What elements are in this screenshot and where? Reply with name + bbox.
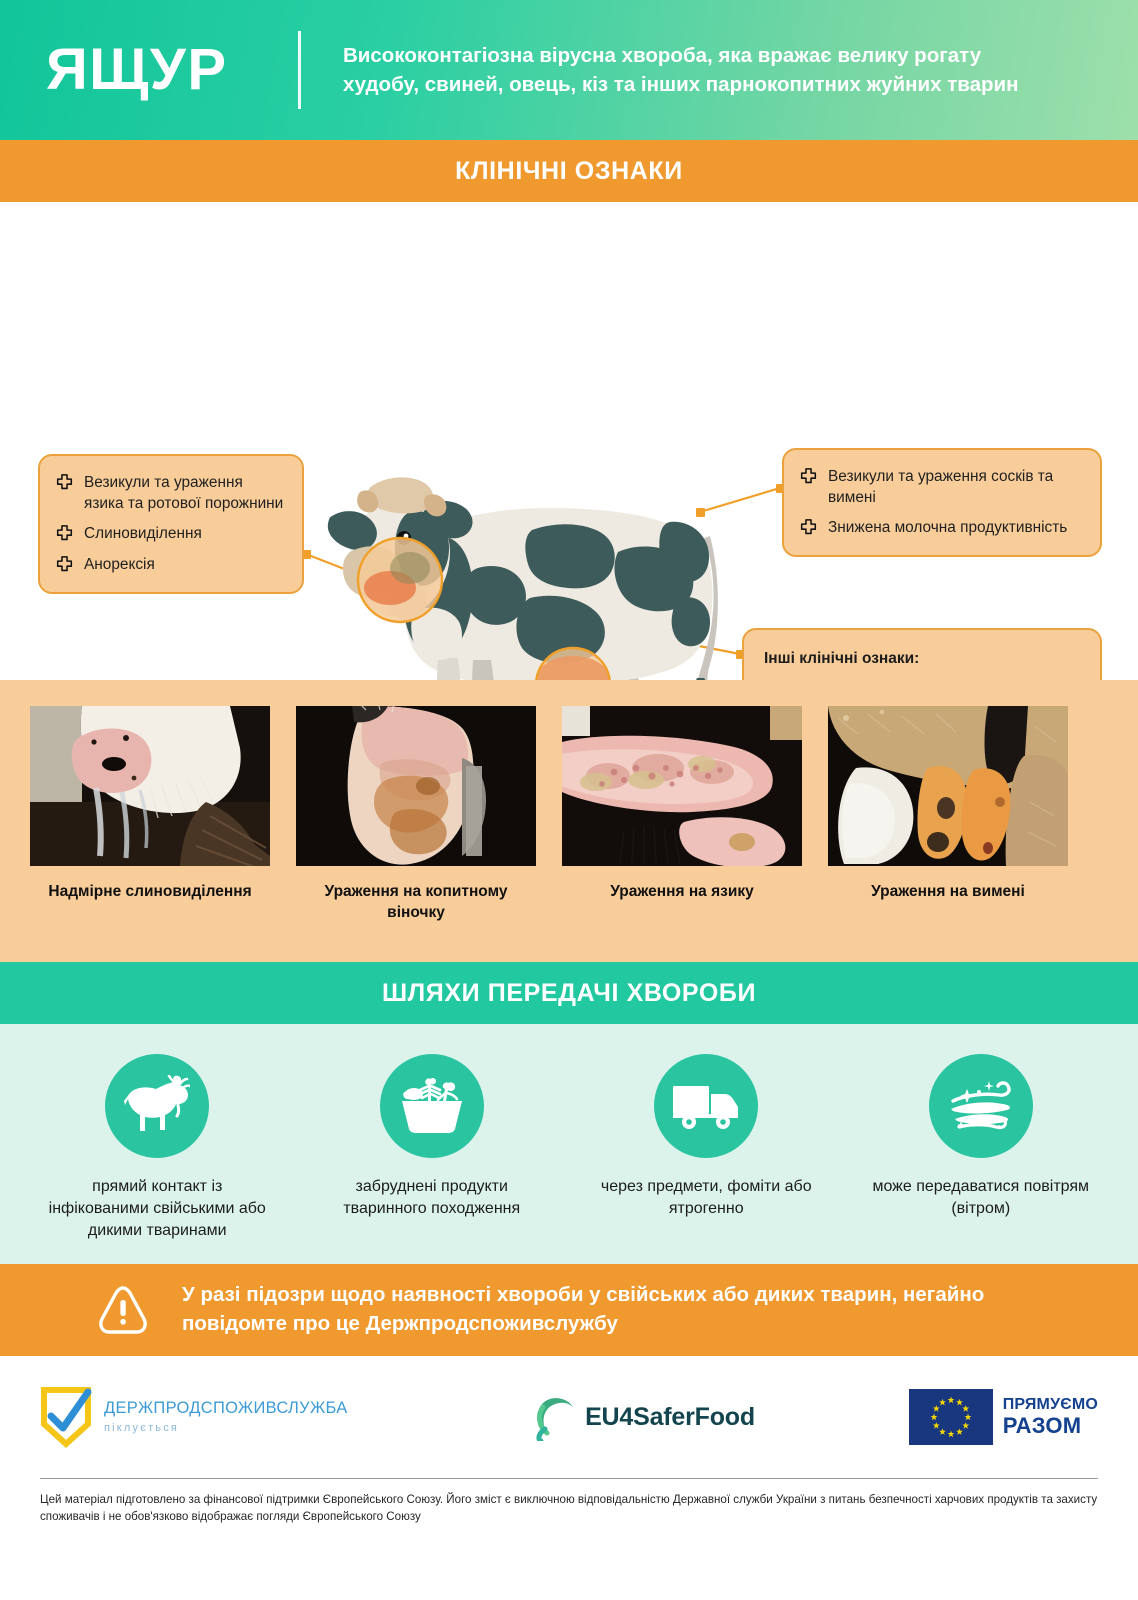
transmission-item: може передаватися повітрям (вітром) — [844, 1054, 1119, 1264]
cross-bullet-icon — [56, 556, 73, 573]
udder-lesion-photo — [828, 706, 1068, 866]
photo-caption: Ураження на вимені — [871, 882, 1025, 903]
food-basket-icon — [400, 1077, 464, 1135]
sign-item: Анорексія — [56, 554, 284, 576]
photo-caption: Ураження на копитному віночку — [296, 882, 536, 924]
cross-bullet-icon — [56, 474, 73, 491]
salivation-photo — [30, 706, 270, 866]
cross-bullet-icon — [800, 468, 817, 485]
callout-box-mouth: Везикули та ураження язика та ротової по… — [38, 454, 304, 594]
dps-logo-subtitle: піклується — [104, 1422, 348, 1434]
transmission-item-label: забруднені продукти тваринного походженн… — [317, 1176, 547, 1220]
dps-logo: ДЕРЖПРОДСПОЖИВСЛУЖБА піклується — [40, 1386, 470, 1448]
photo-cell: Ураження на вимені — [828, 706, 1068, 962]
sign-item-label: Слиновиділення — [84, 523, 202, 545]
sign-item: Везикули та ураження язика та ротової по… — [56, 472, 284, 514]
transmission-item-label: прямий контакт із інфікованими свійським… — [42, 1176, 272, 1242]
transmission-icon-circle — [380, 1054, 484, 1158]
clinical-signs-section: Везикули та ураження язика та ротової по… — [0, 202, 1138, 680]
cow-illustration — [318, 460, 743, 680]
sign-item-label: Везикули та ураження сосків та вимені — [828, 466, 1082, 508]
together-logo-line1: ПРЯМУЄМО — [1003, 1397, 1098, 1414]
together-logo-line2: РАЗОМ — [1003, 1414, 1098, 1437]
warning-text: У разі підозри щодо наявності хвороби у … — [182, 1281, 1022, 1338]
infographic-page: ЯЩУР Висококонтагіозна вірусна хвороба, … — [0, 0, 1138, 1600]
transmission-item: прямий контакт із інфікованими свійським… — [20, 1054, 295, 1264]
callout-box-title: Інші клінічні ознаки: — [764, 650, 1082, 668]
callout-box-other-signs: Інші клінічні ознаки: Аборт і раптова за… — [742, 628, 1102, 680]
photo-cell: Ураження на язику — [562, 706, 802, 962]
clinical-signs-band: КЛІНІЧНІ ОЗНАКИ — [0, 140, 1138, 202]
sign-item-label: Знижена молочна продуктивність — [828, 517, 1067, 539]
eu4saferfood-wordmark: EU4SaferFood — [585, 1403, 755, 1432]
callout-box-udder: Везикули та ураження сосків та вимені Зн… — [782, 448, 1102, 557]
disclaimer-section: Цей матеріал підготовлено за фінансової … — [0, 1478, 1138, 1525]
tongue-lesion-photo — [562, 706, 802, 866]
transmission-icon-circle — [105, 1054, 209, 1158]
eu4saferfood-swirl-icon — [533, 1393, 579, 1441]
transmission-band-label: ШЛЯХИ ПЕРЕДАЧІ ХВОРОБИ — [382, 979, 756, 1008]
transmission-item-label: може передаватися повітрям (вітром) — [866, 1176, 1096, 1220]
sign-item-label: Анорексія — [84, 554, 155, 576]
header-subtitle: Висококонтагіозна вірусна хвороба, яка в… — [343, 41, 1043, 99]
truck-icon — [673, 1082, 739, 1130]
coronary-band-lesion-photo — [296, 706, 536, 866]
warning-triangle-icon — [96, 1283, 150, 1337]
footer-logos: ДЕРЖПРОДСПОЖИВСЛУЖБА піклується EU4Safer… — [0, 1356, 1138, 1478]
together-eu-logo: ПРЯМУЄМО РАЗОМ — [818, 1389, 1098, 1445]
photo-caption: Надмірне слиновиділення — [48, 882, 251, 903]
photo-cell: Ураження на копитному віночку — [296, 706, 536, 962]
sign-item: Везикули та ураження сосків та вимені — [800, 466, 1082, 508]
transmission-item: через предмети, фоміти або ятрогенно — [569, 1054, 844, 1264]
photo-cell: Надмірне слиновиділення — [30, 706, 270, 962]
dps-logo-title: ДЕРЖПРОДСПОЖИВСЛУЖБА — [104, 1400, 348, 1417]
disclaimer-text: Цей матеріал підготовлено за фінансової … — [40, 1479, 1098, 1525]
cross-bullet-icon — [56, 525, 73, 542]
shield-check-icon — [40, 1386, 92, 1448]
sign-item: Знижена молочна продуктивність — [800, 517, 1082, 539]
transmission-band: ШЛЯХИ ПЕРЕДАЧІ ХВОРОБИ — [0, 962, 1138, 1024]
transmission-item-label: через предмети, фоміти або ятрогенно — [591, 1176, 821, 1220]
header-divider — [298, 31, 301, 109]
eu4saferfood-logo: EU4SaferFood — [470, 1393, 818, 1441]
eu-flag-icon — [909, 1389, 993, 1445]
cross-bullet-icon — [800, 519, 817, 536]
transmission-icon-circle — [929, 1054, 1033, 1158]
page-title: ЯЩУР — [46, 41, 298, 99]
wind-icon — [949, 1077, 1013, 1135]
clinical-photos-section: Надмірне слиновиділення — [0, 680, 1138, 962]
header-banner: ЯЩУР Висококонтагіозна вірусна хвороба, … — [0, 0, 1138, 140]
sign-item-label: Везикули та ураження язика та ротової по… — [84, 472, 284, 514]
photo-caption: Ураження на язику — [610, 882, 754, 903]
transmission-icon-circle — [654, 1054, 758, 1158]
transmission-item: забруднені продукти тваринного походженн… — [295, 1054, 570, 1264]
goat-icon — [124, 1075, 190, 1137]
clinical-signs-band-label: КЛІНІЧНІ ОЗНАКИ — [455, 157, 683, 186]
transmission-section: прямий контакт із інфікованими свійським… — [0, 1024, 1138, 1264]
warning-banner: У разі підозри щодо наявності хвороби у … — [0, 1264, 1138, 1356]
sign-item: Слиновиділення — [56, 523, 284, 545]
